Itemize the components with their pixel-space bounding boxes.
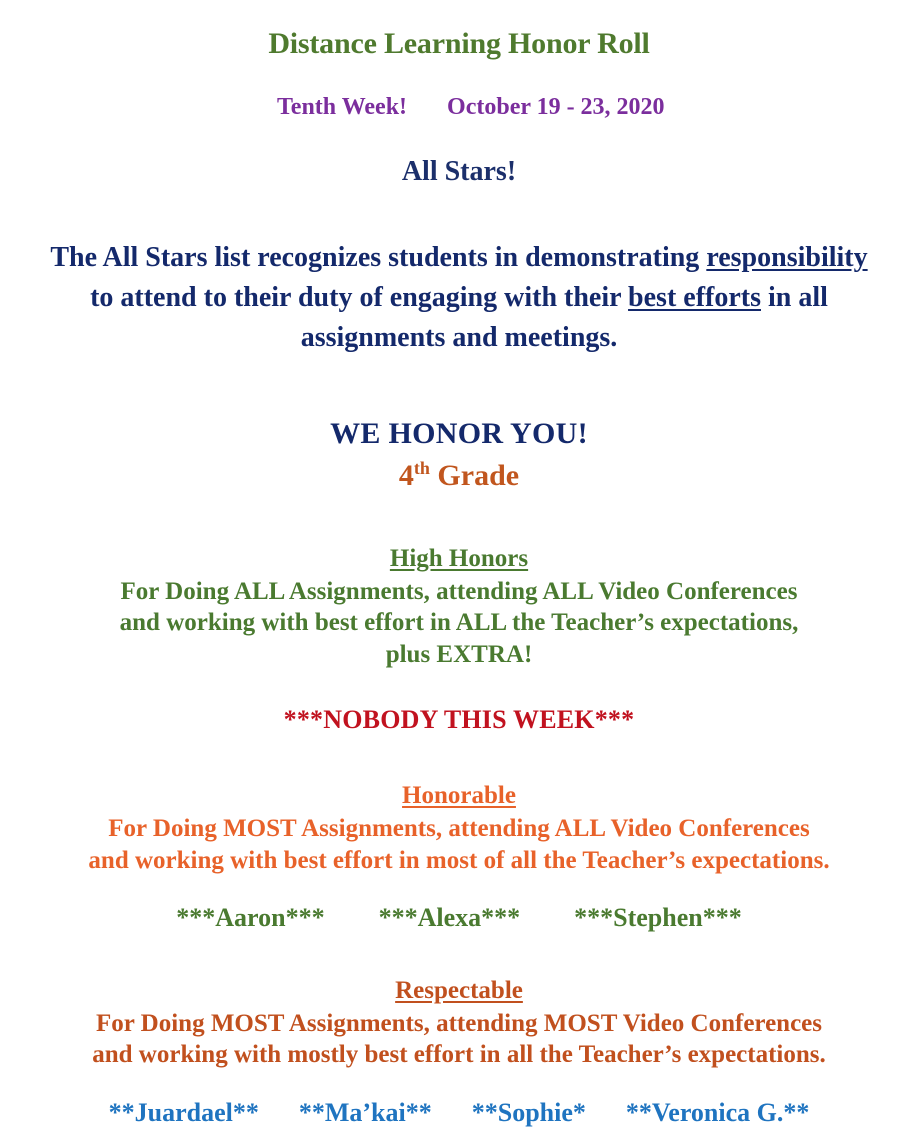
student-name: ***Stephen*** — [574, 902, 742, 933]
date-range: October 19 - 23, 2020 — [447, 94, 665, 120]
student-name: **Sophie* — [472, 1097, 586, 1128]
empty-notice-high-honors: ***NOBODY THIS WEEK*** — [24, 704, 894, 735]
intro-line-1: The All Stars list recognizes students i… — [50, 242, 699, 273]
section-honorable: Honorable For Doing MOST Assignments, at… — [24, 781, 894, 933]
student-name: **Veronica G.** — [626, 1097, 809, 1128]
intro-underline-responsibility: responsibility — [706, 242, 867, 273]
honor-roll-document: Distance Learning Honor Roll Tenth Week!… — [0, 28, 918, 1140]
criteria-line: For Doing MOST Assignments, attending AL… — [29, 813, 889, 845]
names-row-respectable: **Juardael****Ma’kai****Sophie***Veronic… — [24, 1097, 894, 1128]
section-criteria-honorable: For Doing MOST Assignments, attending AL… — [29, 813, 889, 876]
section-criteria-high-honors: For Doing ALL Assignments, attending ALL… — [29, 576, 889, 671]
student-name: ***Aaron*** — [176, 902, 324, 933]
section-criteria-respectable: For Doing MOST Assignments, attending MO… — [29, 1008, 889, 1071]
grade-ordinal-suffix: th — [414, 458, 430, 478]
week-and-date-line: Tenth Week!October 19 - 23, 2020 — [24, 64, 894, 150]
section-high-honors: High Honors For Doing ALL Assignments, a… — [24, 544, 894, 736]
grade-word: Grade — [430, 459, 519, 492]
section-heading-high-honors: High Honors — [24, 544, 894, 574]
student-name: **Ma’kai** — [299, 1097, 432, 1128]
intro-underline-best-efforts: best efforts — [628, 282, 761, 313]
criteria-line: For Doing ALL Assignments, attending ALL… — [29, 576, 889, 608]
criteria-line: and working with best effort in ALL the … — [29, 607, 889, 639]
names-row-honorable: ***Aaron******Alexa******Stephen*** — [24, 902, 894, 933]
section-respectable: Respectable For Doing MOST Assignments, … — [24, 976, 894, 1128]
criteria-line: and working with mostly best effort in a… — [29, 1039, 889, 1071]
document-title: Distance Learning Honor Roll — [24, 28, 894, 60]
student-name: ***Alexa*** — [379, 902, 521, 933]
section-heading-honorable: Honorable — [24, 781, 894, 811]
honor-callout: WE HONOR YOU! — [24, 416, 894, 452]
criteria-line: For Doing MOST Assignments, attending MO… — [29, 1008, 889, 1040]
criteria-line: and working with best effort in most of … — [29, 845, 889, 877]
grade-number: 4 — [399, 459, 414, 492]
week-label: Tenth Week! — [277, 94, 407, 120]
intro-paragraph: The All Stars list recognizes students i… — [49, 238, 869, 357]
grade-level: 4th Grade — [24, 458, 894, 494]
student-name: **Juardael** — [109, 1097, 259, 1128]
intro-line-3-prefix: their — [564, 282, 628, 313]
intro-line-2: to attend to their duty of engaging with — [90, 282, 557, 313]
section-heading-respectable: Respectable — [24, 976, 894, 1006]
criteria-line: plus EXTRA! — [29, 639, 889, 671]
document-subtitle: All Stars! — [24, 155, 894, 189]
